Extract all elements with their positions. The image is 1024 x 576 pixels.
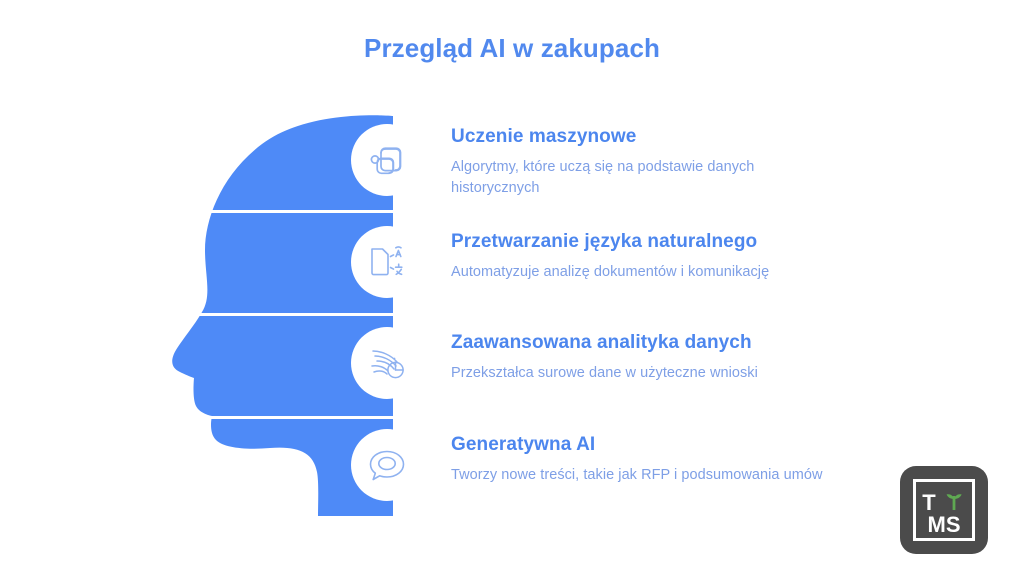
feature-heading: Zaawansowana analityka danych (451, 331, 881, 355)
icon-circle-nlp (351, 226, 423, 298)
feature-description: Algorytmy, które uczą się na podstawie d… (451, 157, 811, 199)
feature-row: Przetwarzanie języka naturalnego Automat… (451, 230, 881, 283)
speech-bubble-icon (365, 443, 409, 487)
icon-circle-generative-ai (351, 429, 423, 501)
green-sprout-icon (947, 494, 962, 510)
feature-heading: Generatywna AI (451, 433, 881, 457)
feature-description: Przekształca surowe dane w użyteczne wni… (451, 363, 871, 384)
icon-circle-machine-learning (351, 124, 423, 196)
feature-heading: Przetwarzanie języka naturalnego (451, 230, 881, 254)
data-flow-pie-chart-icon (365, 341, 409, 385)
logo-letters-ms: MS (928, 512, 961, 537)
feature-row: Zaawansowana analityka danych Przekształ… (451, 331, 881, 384)
feature-row: Uczenie maszynowe Algorytmy, które uczą … (451, 125, 881, 199)
tms-logo: T MS (900, 466, 988, 554)
feature-description: Tworzy nowe treści, takie jak RFP i pods… (451, 465, 871, 486)
feature-description: Automatyzuje analizę dokumentów i komuni… (451, 262, 871, 283)
feature-heading: Uczenie maszynowe (451, 125, 881, 149)
icon-circle-analytics (351, 327, 423, 399)
machine-learning-nodes-icon (365, 138, 409, 182)
feature-row: Generatywna AI Tworzy nowe treści, takie… (451, 433, 881, 486)
page-title: Przegląd AI w zakupach (0, 33, 1024, 64)
document-translate-icon (365, 240, 409, 284)
infographic-slide: Przegląd AI w zakupach (0, 0, 1024, 576)
